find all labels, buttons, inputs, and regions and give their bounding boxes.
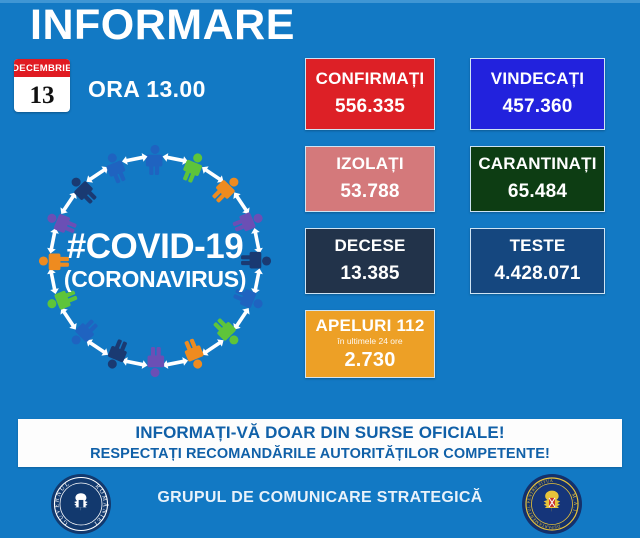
- connection-arrow: [121, 152, 148, 166]
- stat-box-vindecati: VINDECAȚI457.360: [470, 58, 605, 130]
- stat-label-vindecati: VINDECAȚI: [491, 69, 584, 89]
- stat-value-confirmati: 556.335: [335, 96, 405, 119]
- stat-note-apeluri: în ultimele 24 ore: [337, 337, 402, 346]
- person-figure: [146, 145, 163, 175]
- connection-arrow: [46, 268, 60, 295]
- stat-value-teste: 4.428.071: [494, 263, 580, 286]
- banner-line-2: RESPECTAȚI RECOMANDĂRILE AUTORITĂȚILOR C…: [90, 445, 550, 463]
- calendar-day: 13: [14, 78, 70, 112]
- guvernul-romaniei-seal-icon: GUVERNUL ROMÂNIEI: [50, 473, 112, 538]
- person-figure: [148, 347, 165, 377]
- official-sources-banner: INFORMAȚI-VĂ DOAR DIN SURSE OFICIALE! RE…: [18, 419, 622, 467]
- stat-box-teste: TESTE4.428.071: [470, 228, 605, 294]
- connection-arrow: [121, 356, 148, 370]
- stat-box-izolati: IZOLAȚI53.788: [305, 146, 435, 212]
- person-figure: [241, 252, 271, 269]
- stat-label-carantinati: CARANTINAȚI: [478, 154, 596, 174]
- hour-label: ORA 13.00: [88, 76, 206, 103]
- connection-arrow: [162, 152, 189, 166]
- stat-label-confirmati: CONFIRMAȚI: [316, 69, 425, 89]
- people-circle-svg: [14, 133, 296, 398]
- stat-value-carantinati: 65.484: [508, 181, 567, 204]
- stat-label-teste: TESTE: [510, 236, 566, 256]
- stat-label-izolati: IZOLAȚI: [336, 154, 404, 174]
- stat-value-vindecati: 457.360: [502, 96, 572, 119]
- page-title: INFORMARE: [30, 4, 295, 47]
- connection-arrow: [46, 227, 60, 254]
- stat-value-izolati: 53.788: [340, 181, 399, 204]
- connection-arrow: [250, 268, 264, 295]
- stat-label-decese: DECESE: [334, 236, 405, 256]
- connection-arrow: [58, 306, 80, 333]
- calendar-icon: DECEMBRIE 13: [14, 59, 70, 112]
- stat-box-decese: DECESE13.385: [305, 228, 435, 294]
- connection-arrow: [200, 337, 227, 359]
- mai-seal-icon: DEPARTAMENTUL PENTRU SITUAȚII M.A.I.: [521, 473, 583, 538]
- connection-arrow: [250, 227, 264, 254]
- people-circle-icon: #COVID-19 (CORONAVIRUS): [14, 133, 296, 398]
- footer-organization: GRUPUL DE COMUNICARE STRATEGICĂ: [140, 489, 500, 507]
- connection-arrow: [231, 190, 253, 217]
- stat-box-confirmati: CONFIRMAȚI556.335: [305, 58, 435, 130]
- calendar-month: DECEMBRIE: [14, 59, 70, 78]
- infographic-root: INFORMARE DECEMBRIE 13 ORA 13.00 #COVID-…: [0, 0, 640, 538]
- stat-label-apeluri: APELURI 112: [316, 316, 425, 336]
- stat-box-apeluri: APELURI 112în ultimele 24 ore2.730: [305, 310, 435, 378]
- connection-arrow: [84, 164, 111, 186]
- stat-value-decese: 13.385: [340, 263, 399, 286]
- stat-value-apeluri: 2.730: [344, 348, 395, 372]
- connection-arrow: [162, 356, 189, 370]
- banner-line-1: INFORMAȚI-VĂ DOAR DIN SURSE OFICIALE!: [135, 423, 504, 443]
- person-figure: [39, 254, 69, 271]
- stat-box-carantinati: CARANTINAȚI65.484: [470, 146, 605, 212]
